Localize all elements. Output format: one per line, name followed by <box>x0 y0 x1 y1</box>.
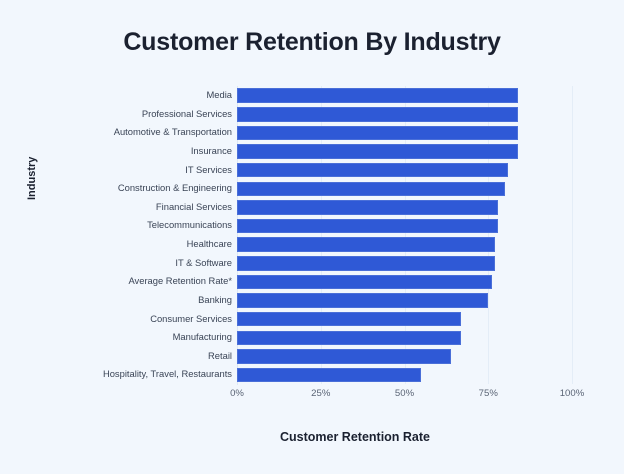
y-axis-tick-label: Healthcare <box>187 235 232 254</box>
chart-card: Customer Retention By Industry Industry … <box>0 0 624 474</box>
y-axis-tick-label: Hospitality, Travel, Restaurants <box>103 365 232 384</box>
x-axis-tick-label: 50% <box>395 388 414 399</box>
y-axis-tick-label: Average Retention Rate* <box>128 272 232 291</box>
y-axis-tick-labels: MediaProfessional ServicesAutomotive & T… <box>0 86 624 384</box>
y-axis-tick-label: IT Services <box>185 161 232 180</box>
x-axis-title: Customer Retention Rate <box>140 430 570 444</box>
x-axis-tick-label: 0% <box>230 388 244 399</box>
y-axis-tick-label: Professional Services <box>142 105 232 124</box>
y-axis-tick-label: IT & Software <box>175 254 232 273</box>
y-axis-tick-label: Insurance <box>191 142 232 161</box>
y-axis-tick-label: Financial Services <box>156 198 232 217</box>
y-axis-tick-label: Construction & Engineering <box>118 179 232 198</box>
y-axis-tick-label: Manufacturing <box>173 328 232 347</box>
y-axis-tick-label: Banking <box>198 291 232 310</box>
x-axis-tick-label: 75% <box>479 388 498 399</box>
y-axis-tick-label: Automotive & Transportation <box>114 123 232 142</box>
y-axis-tick-label: Consumer Services <box>150 310 232 329</box>
chart-title: Customer Retention By Industry <box>0 28 624 57</box>
x-axis-tick-label: 25% <box>311 388 330 399</box>
x-axis-tick-label: 100% <box>560 388 585 399</box>
y-axis-tick-label: Media <box>206 86 232 105</box>
y-axis-tick-label: Retail <box>208 347 232 366</box>
y-axis-tick-label: Telecommunications <box>147 216 232 235</box>
